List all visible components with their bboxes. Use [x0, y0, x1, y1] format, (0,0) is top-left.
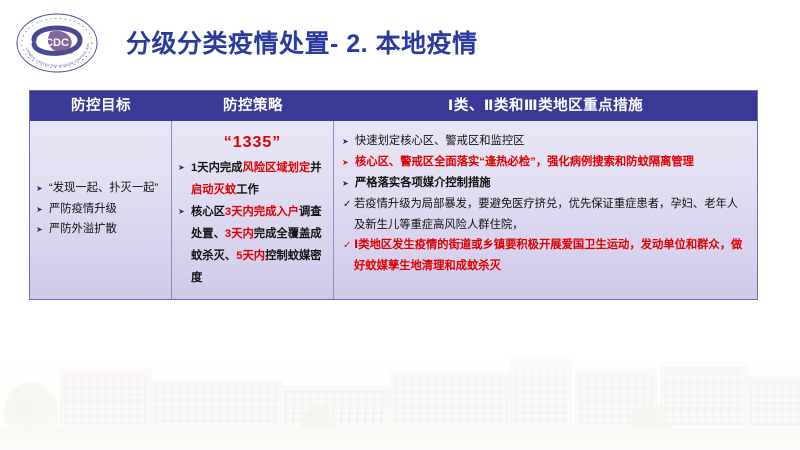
list-item: 1天内完成风险区域划定并启动灭蚊工作 — [178, 157, 327, 201]
list-item: 快速划定核心区、警戒区和监控区 — [342, 131, 749, 152]
text-run: 启动灭蚊 — [191, 184, 236, 196]
list-item: 核心区3天内完成入户调查处置、3天内完成全覆盖成蚊杀灭、5天内控制蚊媒密度 — [178, 201, 327, 289]
text-run: 严格落实各项媒介控制措施 — [355, 177, 491, 189]
text-run: 并 — [310, 162, 321, 174]
text-run: 5天内 — [236, 250, 265, 262]
list-item: 严防疫情升级 — [36, 199, 165, 220]
text-run: 全面落实 — [434, 156, 479, 168]
text-run: Ⅰ类地区 — [354, 239, 392, 251]
column-header-strategy: 防控策略 — [172, 91, 334, 121]
column-header-measures: Ⅰ类、Ⅱ类和Ⅲ类地区重点措施 — [334, 91, 757, 121]
strategy-keyword: “1335” — [178, 131, 327, 155]
text-run: 风险区域划定 — [242, 162, 310, 174]
page-title: 分级分类疫情处置- 2. 本地疫情 — [126, 24, 478, 60]
list-item: 若疫情升级为局部暴发，要避免医疗挤兑，优先保证重症患者，孕妇、老年人及新生儿等重… — [342, 194, 749, 236]
text-run: 工作 — [236, 184, 259, 196]
text-run: 核心区、警戒区 — [355, 156, 434, 168]
text-run: 核心区 — [191, 206, 225, 218]
table-body-row: “发现一起、扑灭一起” 严防疫情升级 严防外溢扩散 “1335” 1天内完成风险… — [30, 121, 757, 299]
cell-prevention-goals: “发现一起、扑灭一起” 严防疫情升级 严防外溢扩散 — [30, 121, 172, 299]
text-run: 快速划定核心区、警戒区和监控区 — [355, 135, 524, 147]
list-item: Ⅰ类地区发生疫情的街道或乡镇要积极开展爱国卫生运动，发动单位和群众，做好蚊媒孳生… — [342, 235, 749, 277]
strategy-table: 防控目标 防控策略 Ⅰ类、Ⅱ类和Ⅲ类地区重点措施 “发现一起、扑灭一起” 严防疫… — [29, 90, 758, 300]
china-cdc-logo: CDC CHINESE CENTER FOR DISEASE CONTROL A… — [14, 10, 100, 76]
list-item: 严格落实各项媒介控制措施 — [342, 173, 749, 194]
list-item: 严防外溢扩散 — [36, 219, 165, 240]
cell-prevention-strategy: “1335” 1天内完成风险区域划定并启动灭蚊工作 核心区3天内完成入户调查处置… — [172, 121, 334, 299]
text-run: 1天内完成 — [191, 162, 242, 174]
text-run: ，强化病例搜索和防蚊隔离管理 — [536, 156, 694, 168]
text-run: 3天内完成入户 — [225, 206, 299, 218]
list-item: “发现一起、扑灭一起” — [36, 178, 165, 199]
slide-canvas: CDC CHINESE CENTER FOR DISEASE CONTROL A… — [0, 0, 800, 450]
text-run: “逢热必检” — [479, 156, 536, 168]
campus-photo-backdrop — [0, 340, 800, 450]
text-run: 若疫情升级为局部暴发，要避免医疗挤兑，优先保证重症患者，孕妇、老年人及新生儿等重… — [354, 198, 738, 231]
svg-text:CDC: CDC — [45, 37, 69, 49]
cell-key-measures: 快速划定核心区、警戒区和监控区 核心区、警戒区全面落实“逢热必检”，强化病例搜索… — [334, 121, 757, 299]
text-run: 3天内 — [225, 228, 254, 240]
photo-fade-overlay — [0, 340, 800, 450]
table-header-row: 防控目标 防控策略 Ⅰ类、Ⅱ类和Ⅲ类地区重点措施 — [30, 91, 757, 121]
text-run: 发生疫情的街道或乡镇要积极开展爱国卫生运动，发动单位和群众，做好蚊媒孳生地清理和… — [354, 239, 742, 272]
list-item: 核心区、警戒区全面落实“逢热必检”，强化病例搜索和防蚊隔离管理 — [342, 152, 749, 173]
column-header-goal: 防控目标 — [30, 91, 172, 121]
